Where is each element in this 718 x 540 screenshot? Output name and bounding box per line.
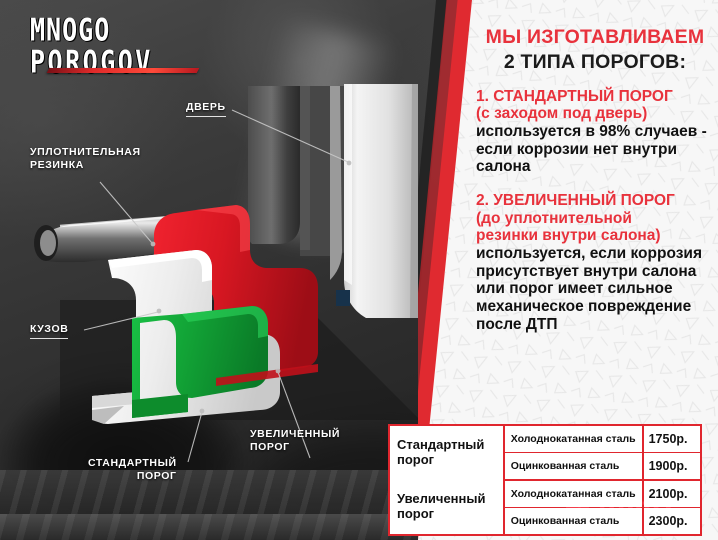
logo-line-1: MNOGO bbox=[30, 14, 210, 45]
cell-type-standard: Стандартный порог bbox=[390, 426, 504, 480]
cell-material-2: Оцинкованная сталь bbox=[504, 453, 643, 481]
label-extended-sill: УВЕЛИЧЕННЫЙ ПОРОГ bbox=[250, 428, 340, 454]
cell-price-4: 2300р. bbox=[643, 508, 700, 535]
sill-type-block-2: 2. УВЕЛИЧЕННЫЙ ПОРОГ (до уплотнительной … bbox=[476, 192, 714, 333]
cell-price-1: 1750р. bbox=[643, 426, 700, 453]
panel-title-line2: 2 ТИПА ПОРОГОВ: bbox=[476, 52, 714, 74]
advertisement-image: ДВЕРЬ УПЛОТНИТЕЛЬНАЯ РЕЗИНКА КУЗОВ СТАНД… bbox=[0, 0, 718, 540]
block-1-subheading: (с заходом под дверь) bbox=[476, 105, 714, 123]
brand-logo[interactable]: MNOGO POROGOV bbox=[30, 14, 210, 71]
label-seal-line2: РЕЗИНКА bbox=[30, 159, 84, 172]
label-extended-line1: УВЕЛИЧЕННЫЙ bbox=[250, 428, 340, 441]
price-table-grid: Стандартный порог Холоднокатанная сталь … bbox=[390, 426, 700, 534]
panel-title: МЫ ИЗГОТАВЛИВАЕМ 2 ТИПА ПОРОГОВ: bbox=[476, 27, 714, 74]
table-row: Стандартный порог Холоднокатанная сталь … bbox=[390, 426, 700, 453]
cell-price-3: 2100р. bbox=[643, 480, 700, 508]
block-2-heading: 2. УВЕЛИЧЕННЫЙ ПОРОГ bbox=[476, 192, 714, 210]
cell-material-1: Холоднокатанная сталь bbox=[504, 426, 643, 453]
label-standard-line2: ПОРОГ bbox=[137, 470, 177, 483]
panel-title-line1: МЫ ИЗГОТАВЛИВАЕМ bbox=[476, 27, 714, 49]
block-2-subheading-line2: резинки внутри салона) bbox=[476, 227, 714, 245]
block-1-body: используется в 98% случаев - если корроз… bbox=[476, 123, 714, 176]
label-door: ДВЕРЬ bbox=[186, 101, 226, 117]
label-extended-line2: ПОРОГ bbox=[250, 441, 290, 454]
price-table: Стандартный порог Холоднокатанная сталь … bbox=[388, 424, 702, 536]
label-standard-line1: СТАНДАРТНЫЙ bbox=[88, 457, 177, 470]
block-1-heading: 1. СТАНДАРТНЫЙ ПОРОГ bbox=[476, 88, 714, 106]
block-2-subheading-line1: (до уплотнительной bbox=[476, 210, 714, 228]
label-seal-line1: УПЛОТНИТЕЛЬНАЯ bbox=[30, 146, 141, 159]
block-2-body: используется, если коррозия присутствует… bbox=[476, 245, 714, 333]
cell-price-2: 1900р. bbox=[643, 453, 700, 481]
label-seal: УПЛОТНИТЕЛЬНАЯ РЕЗИНКА bbox=[30, 146, 141, 172]
cell-material-3: Холоднокатанная сталь bbox=[504, 480, 643, 508]
cell-material-4: Оцинкованная сталь bbox=[504, 508, 643, 535]
sill-type-block-1: 1. СТАНДАРТНЫЙ ПОРОГ (с заходом под двер… bbox=[476, 88, 714, 176]
label-standard-sill: СТАНДАРТНЫЙ ПОРОГ bbox=[88, 457, 177, 483]
logo-underline-bar bbox=[47, 68, 200, 73]
label-body: КУЗОВ bbox=[30, 323, 68, 339]
cell-type-extended: Увеличенный порог bbox=[390, 480, 504, 534]
table-row: Увеличенный порог Холоднокатанная сталь … bbox=[390, 480, 700, 508]
